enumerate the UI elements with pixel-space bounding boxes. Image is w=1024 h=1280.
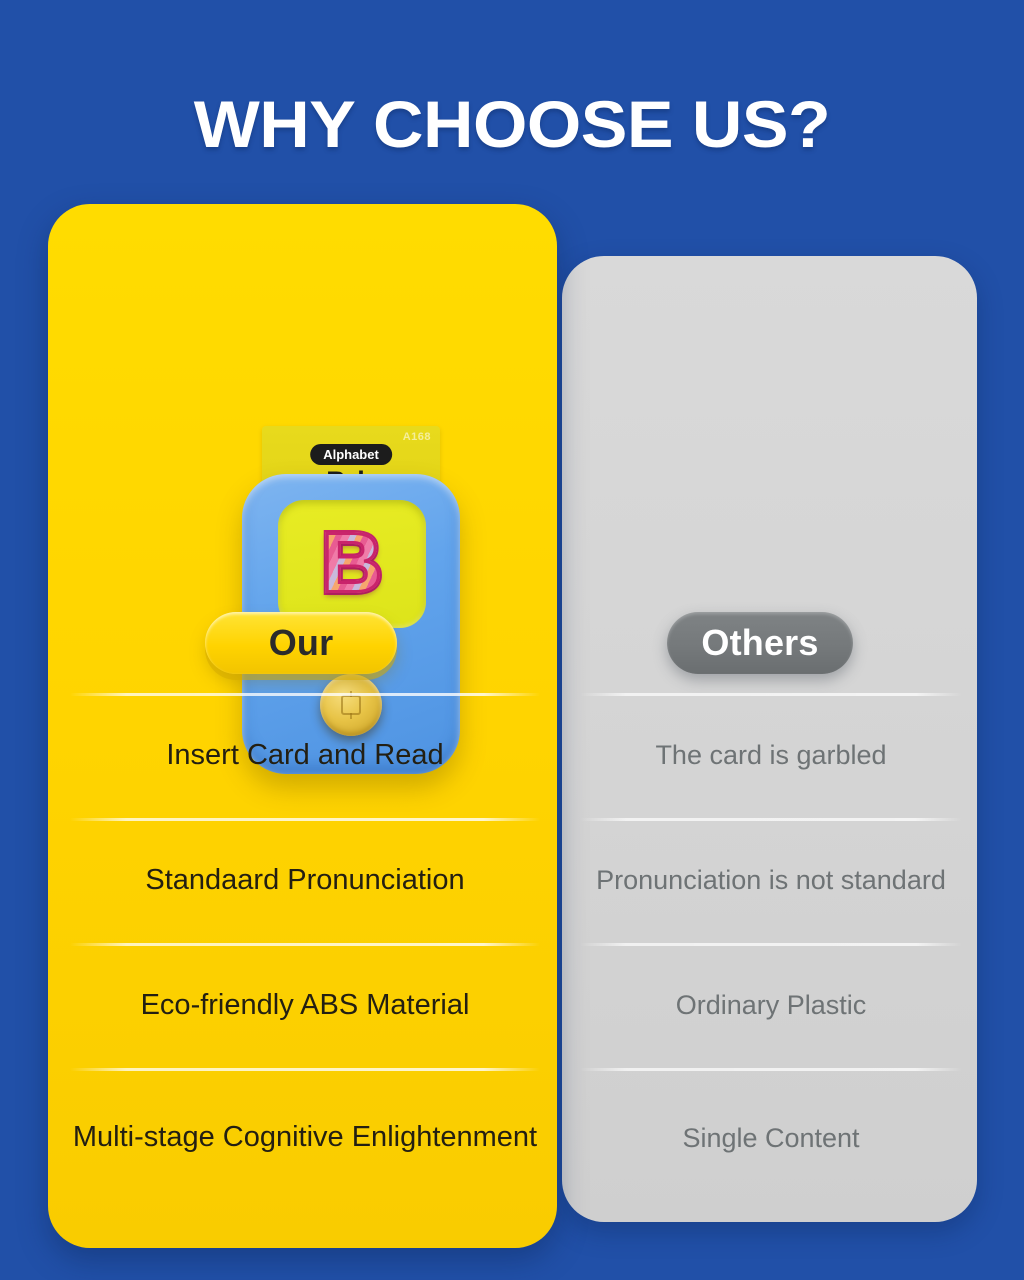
our-feature-row: Eco-friendly ABS Material bbox=[70, 943, 540, 1068]
our-device-screen: B B bbox=[278, 500, 426, 628]
others-feature-row: Single Content bbox=[575, 1068, 967, 1208]
others-column-label: Others bbox=[701, 622, 818, 664]
our-feature-row: Insert Card and Read bbox=[70, 693, 540, 818]
others-column-badge: Others bbox=[667, 612, 853, 674]
our-column-badge: Our bbox=[205, 612, 397, 674]
card-category-badge: Alphabet bbox=[310, 444, 392, 465]
infographic-canvas: WHY CHOOSE US? A168 Alphabet B b B B bbox=[0, 0, 1024, 1280]
our-feature-row: Standaard Pronunciation bbox=[70, 818, 540, 943]
our-column-label: Our bbox=[269, 622, 334, 664]
screen-letter: B bbox=[322, 520, 383, 604]
others-feature-row: Ordinary Plastic bbox=[575, 943, 967, 1068]
others-feature-row: Pronunciation is not standard bbox=[575, 818, 967, 943]
card-code-label: A168 bbox=[403, 431, 431, 443]
page-title: WHY CHOOSE US? bbox=[0, 86, 1024, 162]
our-feature-row: Multi-stage Cognitive Enlightenment bbox=[70, 1068, 540, 1208]
others-feature-row: The card is garbled bbox=[575, 693, 967, 818]
